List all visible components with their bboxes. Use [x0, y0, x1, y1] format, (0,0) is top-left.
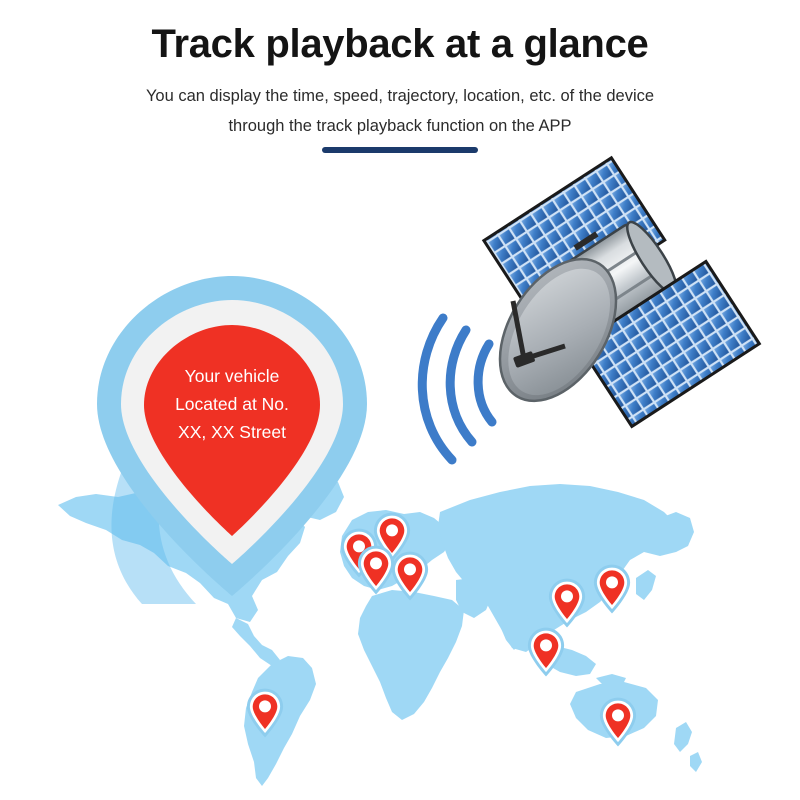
location-pin-icon-europe-central[interactable] [358, 546, 394, 595]
poster-canvas: Track playback at a glance You can displ… [0, 0, 800, 800]
illustration [0, 0, 800, 800]
signal-arc-inner [478, 344, 492, 422]
location-pin-icon-oceania[interactable] [600, 698, 636, 747]
location-pin-icon-asia-northeast[interactable] [594, 565, 630, 614]
map-japan [636, 570, 656, 600]
map-asia [438, 484, 686, 652]
map-new-zealand [674, 722, 702, 772]
map-central-america [232, 618, 280, 666]
map-africa [358, 590, 464, 720]
signal-arc-middle [450, 330, 472, 442]
signal-waves-icon [422, 318, 492, 460]
satellite-icon [476, 158, 759, 427]
